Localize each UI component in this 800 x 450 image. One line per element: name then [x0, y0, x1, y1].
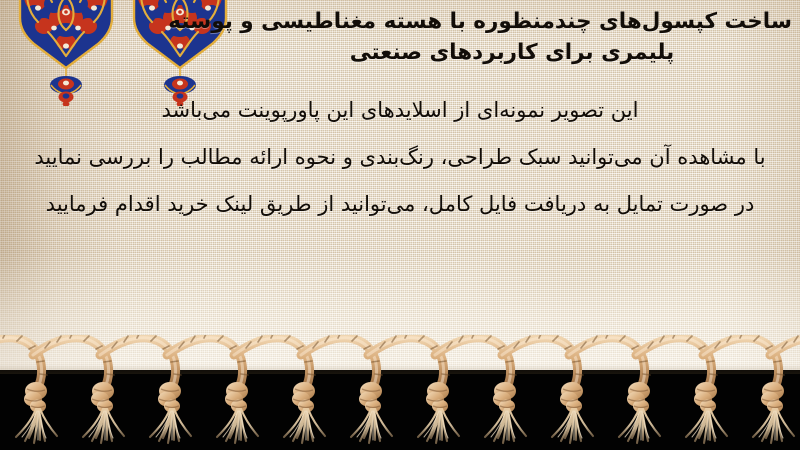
- body-line-3: در صورت تمایل به دریافت فایل کامل، می‌تو…: [14, 194, 786, 215]
- slide-canvas: ساخت کپسول‌های چندمنظوره با هسته مغناطیس…: [0, 0, 800, 450]
- body-line-2: با مشاهده آن می‌توانید سبک طراحی، رنگ‌بن…: [14, 147, 786, 168]
- illumination-medallion-right: [14, 0, 118, 110]
- body-line-1: این تصویر نمونه‌ای از اسلایدهای این پاور…: [14, 100, 786, 121]
- bottom-black-band: [0, 370, 800, 450]
- slide-title-line-2: پلیمری برای کاربردهای صنعتی: [232, 37, 792, 68]
- slide-title-line-1: ساخت کپسول‌های چندمنظوره با هسته مغناطیس…: [232, 6, 792, 37]
- slide-body-text: این تصویر نمونه‌ای از اسلایدهای این پاور…: [14, 100, 786, 215]
- slide-title: ساخت کپسول‌های چندمنظوره با هسته مغناطیس…: [232, 6, 792, 68]
